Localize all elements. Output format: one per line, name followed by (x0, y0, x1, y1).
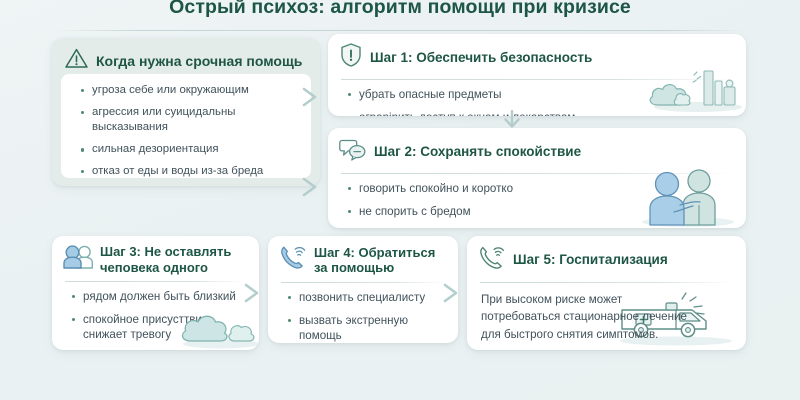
step1-list: убрать опасные предметы ограninить досту… (328, 80, 746, 116)
infographic-canvas: Острый психоз: алгоритм помощи при кризи… (0, 0, 800, 400)
warning-triangle-icon (64, 47, 89, 75)
step2-card: Шаг 2: Сохранять спокойствие говорить сп… (328, 128, 746, 228)
list-item: не спорить с бредом (348, 204, 734, 220)
step1-title: Шаг 1: Обеспечить безопасность (370, 50, 592, 66)
list-item: рядом должен быть близкий (72, 289, 247, 305)
step3-card: Шаг 3: Не оставлять чеповека одного рядо… (52, 236, 259, 350)
list-item: угроза себе или окружающим (81, 83, 301, 98)
step4-title-line1: Шаг 4: Обратиться (314, 245, 435, 260)
step4-title-line2: за помощью (314, 260, 394, 275)
step3-title-line2: чеповека одного (100, 260, 208, 275)
step2-title: Шаг 2: Сохранять спокойствие (374, 144, 581, 160)
shield-exclamation-icon (339, 42, 363, 73)
list-item: сильная дезориентация (81, 142, 301, 157)
step4-title: Шаг 4: Обратиться за помощью (314, 245, 435, 276)
warning-list: угроза себе или окружающим агрессия или … (61, 74, 311, 186)
step2-list: говорить спокойно и коротко не спорить с… (328, 174, 746, 228)
page-title: Острый психоз: алгоритм помощи при кризи… (0, 0, 800, 19)
warning-card-title: Когда нужна срочная помощь (96, 53, 302, 70)
phone-signal-icon (478, 244, 506, 276)
step5-body: При высоком риске может потребоваться ст… (467, 283, 702, 350)
step2-header: Шаг 2: Сохранять спокойствие (328, 128, 746, 173)
step5-header: Шаг 5: Госпитализация (467, 236, 746, 282)
step3-list: рядом должен быть близкий спокойное прис… (52, 282, 259, 350)
list-item: отказ от еды и воды из-за бреда (81, 164, 301, 179)
warning-list-panel: угроза себе или окружающим агрессия или … (61, 74, 311, 178)
step5-card: Шаг 5: Госпитализация При высоком риске … (467, 236, 746, 350)
warning-card: Когда нужна срочная помощь угроза себе и… (52, 38, 320, 186)
list-item: позвонить специалисту (288, 290, 446, 306)
list-item: агрессия или суицидальны высказывания (81, 105, 301, 136)
title-divider (55, 30, 745, 31)
step1-header: Шаг 1: Обеспечить безопасность (328, 34, 746, 79)
step4-header: Шаг 4: Обратиться за помощью (268, 236, 458, 282)
step3-title-line1: Шаг 3: Не оставлять (100, 244, 231, 259)
step5-title: Шаг 5: Госпитализация (513, 252, 668, 268)
list-item: вызвать экстренную помощь (288, 313, 446, 343)
step3-title: Шаг 3: Не оставлять чеповека одного (100, 244, 231, 275)
list-item: ограninить доступ к окнам и лекарствам (348, 110, 734, 116)
step4-list: позвонить специалисту вызвать экстренную… (268, 283, 458, 343)
phone-signal-icon (279, 244, 307, 276)
list-item: спокойное присусттвие снижает тревогу (72, 312, 247, 343)
step3-header: Шаг 3: Не оставлять чеповека одного (52, 236, 259, 281)
list-item: убрать опасные предметы (348, 87, 734, 103)
list-item: говорить спокойно и коротко (348, 181, 734, 197)
speech-bubbles-icon (339, 136, 367, 167)
step1-card: Шаг 1: Обеспечить безопасность убрать оп… (328, 34, 746, 116)
two-persons-icon (63, 244, 93, 275)
step4-card: Шаг 4: Обратиться за помощью позвонить с… (268, 236, 458, 343)
list-item: не подтверждать бредовые идеи (348, 226, 734, 228)
